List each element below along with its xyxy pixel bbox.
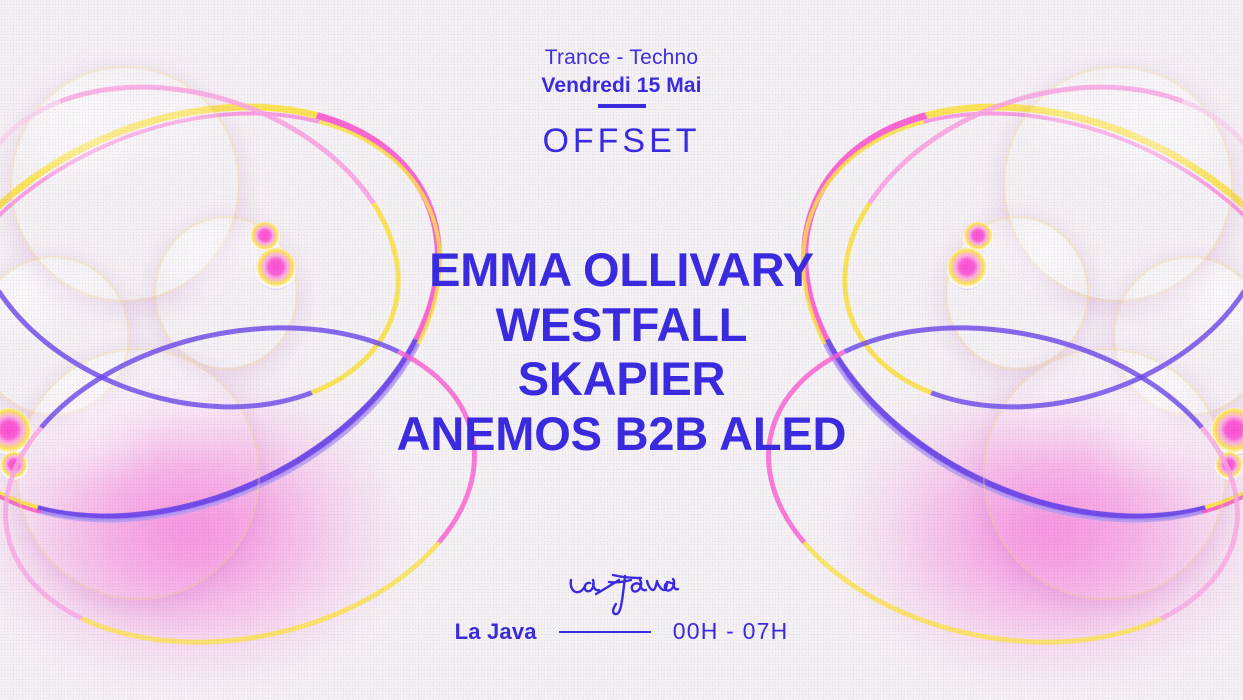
lineup-item: EMMA OLLIVARY	[0, 243, 1243, 298]
genre-label: Trance - Techno	[0, 44, 1243, 72]
divider-rule	[598, 104, 646, 108]
la-java-script-logo	[563, 566, 681, 618]
lineup-item: WESTFALL	[0, 298, 1243, 353]
event-name: OFFSET	[0, 122, 1243, 161]
header-block: Trance - Techno Vendredi 15 Mai	[0, 44, 1243, 101]
footer-block: La Java 00H - 07H	[0, 618, 1243, 645]
lineup-item: ANEMOS B2B ALED	[0, 407, 1243, 462]
footer-divider	[559, 631, 651, 633]
event-poster: Trance - Techno Vendredi 15 Mai OFFSET E…	[0, 0, 1243, 700]
lineup-list: EMMA OLLIVARY WESTFALL SKAPIER ANEMOS B2…	[0, 243, 1243, 461]
date-label: Vendredi 15 Mai	[0, 72, 1243, 100]
poster-content: Trance - Techno Vendredi 15 Mai OFFSET E…	[0, 0, 1243, 700]
event-hours: 00H - 07H	[673, 618, 789, 645]
lineup-item: SKAPIER	[0, 352, 1243, 407]
venue-name: La Java	[455, 619, 537, 645]
